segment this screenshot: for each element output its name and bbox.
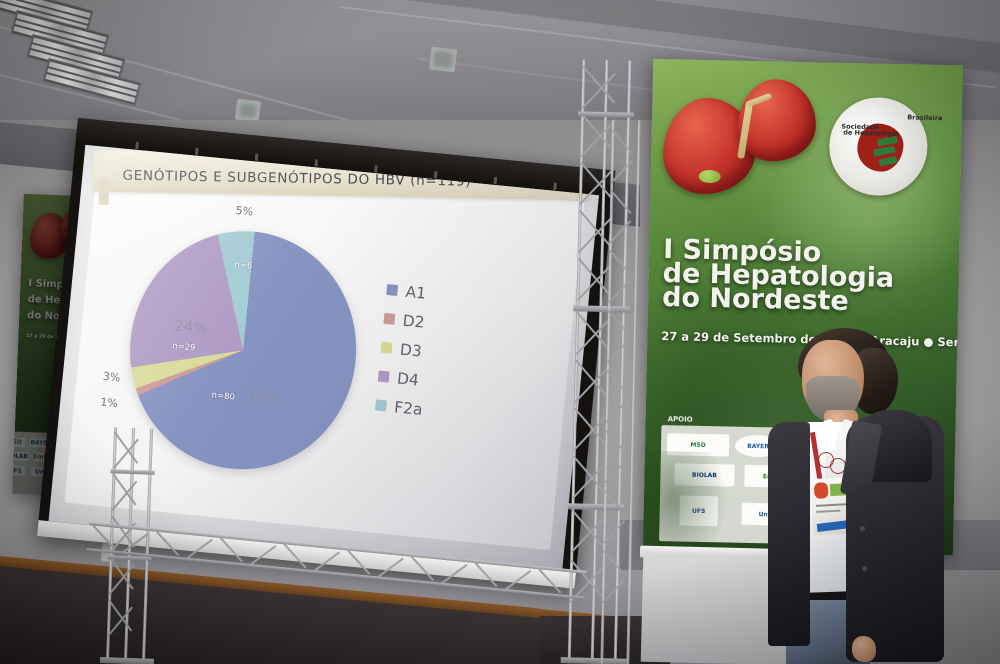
society-logo-ring-text: Sociedade Brasileira de Hepatologia bbox=[828, 97, 928, 197]
legend-item-d2: D2 bbox=[382, 304, 432, 337]
ceiling-downlight bbox=[235, 99, 261, 123]
society-logo: Sociedade Brasileira de Hepatologia bbox=[828, 97, 928, 197]
jacket-button bbox=[862, 566, 867, 571]
conference-room-photo: I Simpósio de Hepatologia do Nordeste 27… bbox=[0, 0, 1000, 664]
slide-title-tab bbox=[99, 179, 109, 205]
legend-swatch-d4 bbox=[378, 371, 390, 383]
legend-label-d3: D3 bbox=[399, 340, 422, 360]
chart-legend: A1 D2 D3 D4 bbox=[374, 275, 435, 424]
presenter-hand bbox=[852, 636, 876, 662]
pie-label-f2a-n: n=6 bbox=[234, 260, 253, 272]
legend-swatch-d3 bbox=[381, 342, 393, 354]
presenter bbox=[740, 326, 1000, 664]
legend-item-a1: A1 bbox=[385, 275, 435, 308]
legend-item-d4: D4 bbox=[377, 362, 427, 395]
legend-label-d2: D2 bbox=[402, 311, 425, 331]
legend-swatch-a1 bbox=[386, 284, 398, 296]
legend-swatch-d2 bbox=[383, 313, 395, 325]
pie-label-a1-pct: 67% bbox=[249, 387, 284, 408]
pie-label-d2-pct: 1% bbox=[100, 396, 119, 411]
society-logo-text-bottom: de Hepatologia bbox=[843, 129, 899, 138]
presenter-jacket-left-panel bbox=[768, 422, 810, 646]
legend-label-f2a: F2a bbox=[393, 398, 423, 419]
legend-swatch-f2a bbox=[375, 399, 387, 411]
society-logo-text-right: Brasileira bbox=[907, 113, 942, 122]
jacket-button bbox=[860, 526, 865, 531]
pie-label-d4-n: n=29 bbox=[172, 341, 196, 353]
legend-item-d3: D3 bbox=[380, 333, 430, 366]
pie-label-d4-pct: 24% bbox=[173, 316, 208, 337]
pie-label-d3-pct: 3% bbox=[102, 370, 121, 385]
banner-title-line3: do Nordeste bbox=[662, 283, 849, 317]
legend-label-a1: A1 bbox=[405, 282, 427, 302]
pie-label-f2a-pct: 5% bbox=[235, 204, 254, 219]
ceiling-downlight bbox=[429, 47, 458, 73]
liver-graphic bbox=[662, 77, 816, 198]
pie-label-a1-n: n=80 bbox=[211, 390, 235, 402]
sponsor-section-label: APOIO bbox=[668, 415, 693, 424]
legend-label-d4: D4 bbox=[396, 369, 419, 389]
legend-item-f2a: F2a bbox=[374, 390, 424, 423]
